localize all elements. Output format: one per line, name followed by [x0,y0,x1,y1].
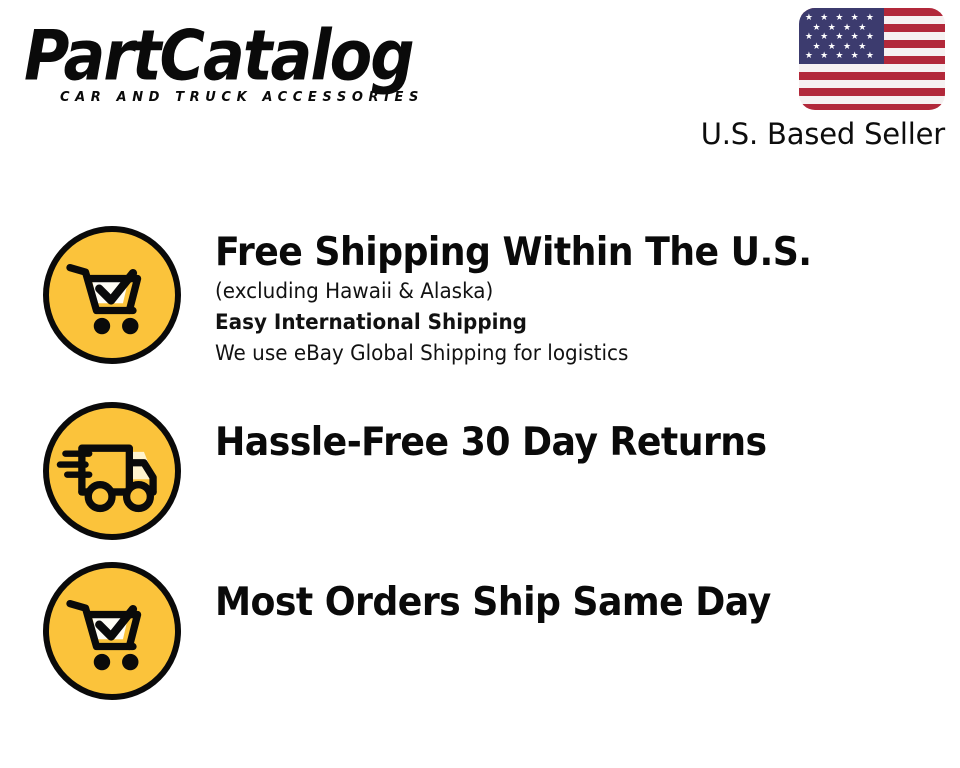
shopping-cart-check-icon [43,562,181,700]
us-flag-icon: ★ ★ ★ ★ ★ ★ ★ ★ ★ ★ ★ ★ ★ ★ ★ ★ ★ ★ ★ ★ [799,8,945,110]
flag-canton: ★ ★ ★ ★ ★ ★ ★ ★ ★ ★ ★ ★ ★ ★ ★ ★ ★ ★ ★ ★ [799,8,884,64]
feature-heading: Free Shipping Within The U.S. [215,230,908,276]
brand-wordmark: PartCatalog [24,18,474,94]
feature-text: Free Shipping Within The U.S. (excluding… [181,226,960,369]
delivery-truck-icon [43,402,181,540]
seller-label: U.S. Based Seller [645,117,945,151]
brand-tagline: CAR AND TRUCK ACCESSORIES [60,90,424,105]
feature-heading: Hassle-Free 30 Day Returns [215,420,908,466]
feature-list: Free Shipping Within The U.S. (excluding… [0,226,960,724]
brand-logo: PartCatalog CAR AND TRUCK ACCESSORIES [24,18,474,113]
feature-subtext-international: Easy International Shipping [215,307,923,338]
feature-row: Most Orders Ship Same Day [0,558,960,724]
feature-row: Free Shipping Within The U.S. (excluding… [0,226,960,392]
feature-subtext-exclusions: (excluding Hawaii & Alaska) [215,276,923,307]
feature-subtext-logistics: We use eBay Global Shipping for logistic… [215,338,923,369]
feature-text: Hassle-Free 30 Day Returns [181,392,960,466]
feature-text: Most Orders Ship Same Day [181,558,960,626]
shipping-info-banner: PartCatalog CAR AND TRUCK ACCESSORIES ★ … [0,0,960,768]
shopping-cart-check-icon [43,226,181,364]
feature-heading: Most Orders Ship Same Day [215,580,908,626]
feature-row: Hassle-Free 30 Day Returns [0,392,960,558]
us-based-seller-badge: ★ ★ ★ ★ ★ ★ ★ ★ ★ ★ ★ ★ ★ ★ ★ ★ ★ ★ ★ ★ [645,8,945,151]
